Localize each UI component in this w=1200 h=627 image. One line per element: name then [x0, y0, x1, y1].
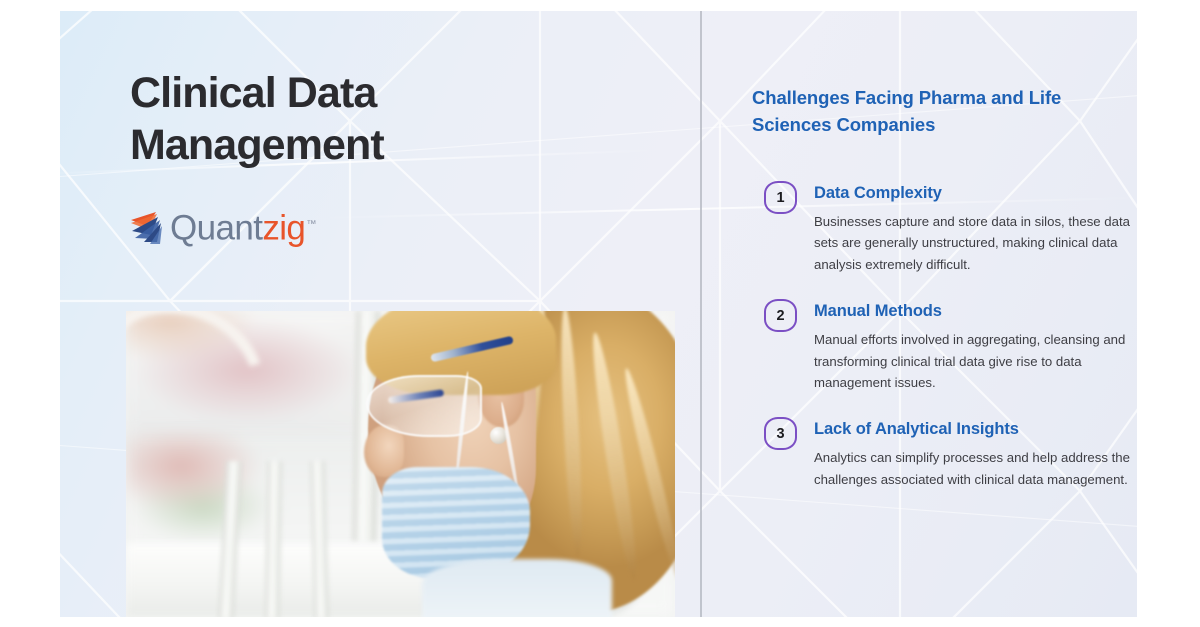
challenge-description: Analytics can simplify processes and hel…: [814, 447, 1137, 490]
challenge-number-badge: 3: [764, 417, 797, 450]
trademark-symbol: ™: [306, 219, 315, 230]
page-title: Clinical Data Management: [130, 67, 560, 172]
challenge-item-3: 3 Lack of Analytical Insights Analytics …: [752, 417, 1137, 490]
scientist-figure: [326, 311, 675, 601]
challenge-title: Manual Methods: [814, 299, 1137, 321]
challenge-title: Lack of Analytical Insights: [814, 417, 1137, 439]
left-panel: Clinical Data Management Quantzig™: [60, 11, 700, 617]
brand-word-accent: zig: [262, 209, 305, 248]
challenge-description: Businesses capture and store data in sil…: [814, 211, 1137, 275]
brand-word-primary: Quant: [170, 209, 262, 248]
slide-canvas: Clinical Data Management Quantzig™: [60, 11, 1137, 617]
lab-tube: [265, 461, 283, 617]
challenge-description: Manual efforts involved in aggregating, …: [814, 329, 1137, 393]
challenge-list: 1 Data Complexity Businesses capture and…: [752, 181, 1137, 514]
right-panel: Challenges Facing Pharma and Life Scienc…: [702, 11, 1137, 617]
challenge-title: Data Complexity: [814, 181, 1137, 203]
brand-logo: Quantzig™: [130, 205, 316, 251]
brand-wordmark: Quantzig™: [170, 208, 316, 246]
lab-scientist-photo: [126, 311, 675, 617]
challenge-item-1: 1 Data Complexity Businesses capture and…: [752, 181, 1137, 275]
quantzig-arrow-logo-icon: [130, 211, 168, 245]
lab-coat: [422, 559, 612, 617]
challenge-item-2: 2 Manual Methods Manual efforts involved…: [752, 299, 1137, 393]
challenge-number-badge: 1: [764, 181, 797, 214]
challenge-number-badge: 2: [764, 299, 797, 332]
challenges-heading: Challenges Facing Pharma and Life Scienc…: [752, 85, 1082, 139]
